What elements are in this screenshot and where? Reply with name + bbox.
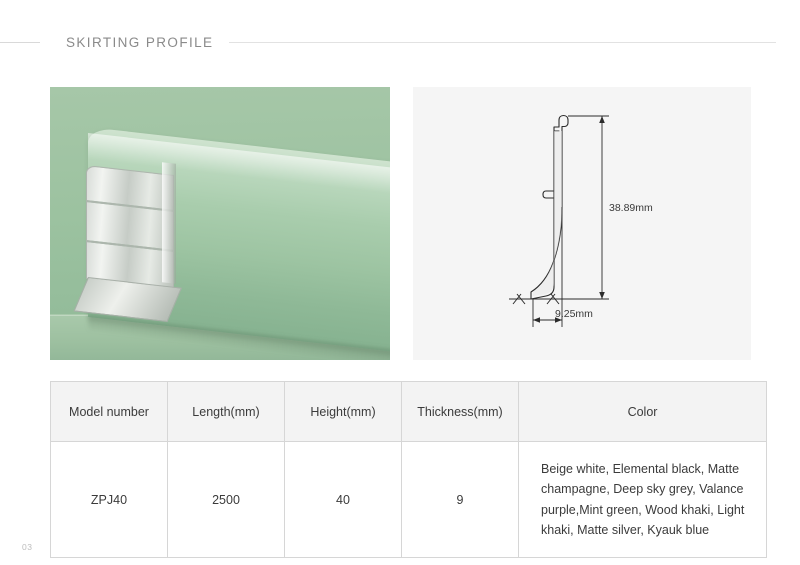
header-model-number: Model number	[51, 382, 168, 442]
height-dimension-label: 38.89mm	[609, 202, 653, 214]
width-dimension-label: 9.25mm	[555, 308, 593, 320]
header-height: Height(mm)	[285, 382, 402, 442]
table-header-row: Model number Length(mm) Height(mm) Thick…	[51, 382, 767, 442]
profile-edge-highlight	[162, 162, 176, 284]
cell-color: Beige white, Elemental black, Matte cham…	[519, 442, 767, 558]
cell-height: 40	[285, 442, 402, 558]
specification-table: Model number Length(mm) Height(mm) Thick…	[50, 381, 767, 558]
cell-length: 2500	[168, 442, 285, 558]
product-photo	[50, 87, 390, 360]
header-length: Length(mm)	[168, 382, 285, 442]
page-number: 03	[22, 542, 32, 552]
aluminium-end-profile	[86, 165, 172, 329]
header-color: Color	[519, 382, 767, 442]
section-fill	[533, 131, 562, 296]
profile-cross-section-drawing: 38.89mm 9.25mm	[413, 87, 751, 360]
header-rule-right	[229, 42, 776, 43]
height-dimension-line	[531, 116, 609, 299]
page-title: SKIRTING PROFILE	[40, 35, 229, 50]
page-header: SKIRTING PROFILE	[0, 28, 800, 56]
cell-thickness: 9	[402, 442, 519, 558]
header-thickness: Thickness(mm)	[402, 382, 519, 442]
table-row: ZPJ40 2500 40 9 Beige white, Elemental b…	[51, 442, 767, 558]
header-rule-left	[0, 42, 40, 43]
cell-model-number: ZPJ40	[51, 442, 168, 558]
technical-drawing-panel: 38.89mm 9.25mm	[413, 87, 751, 360]
